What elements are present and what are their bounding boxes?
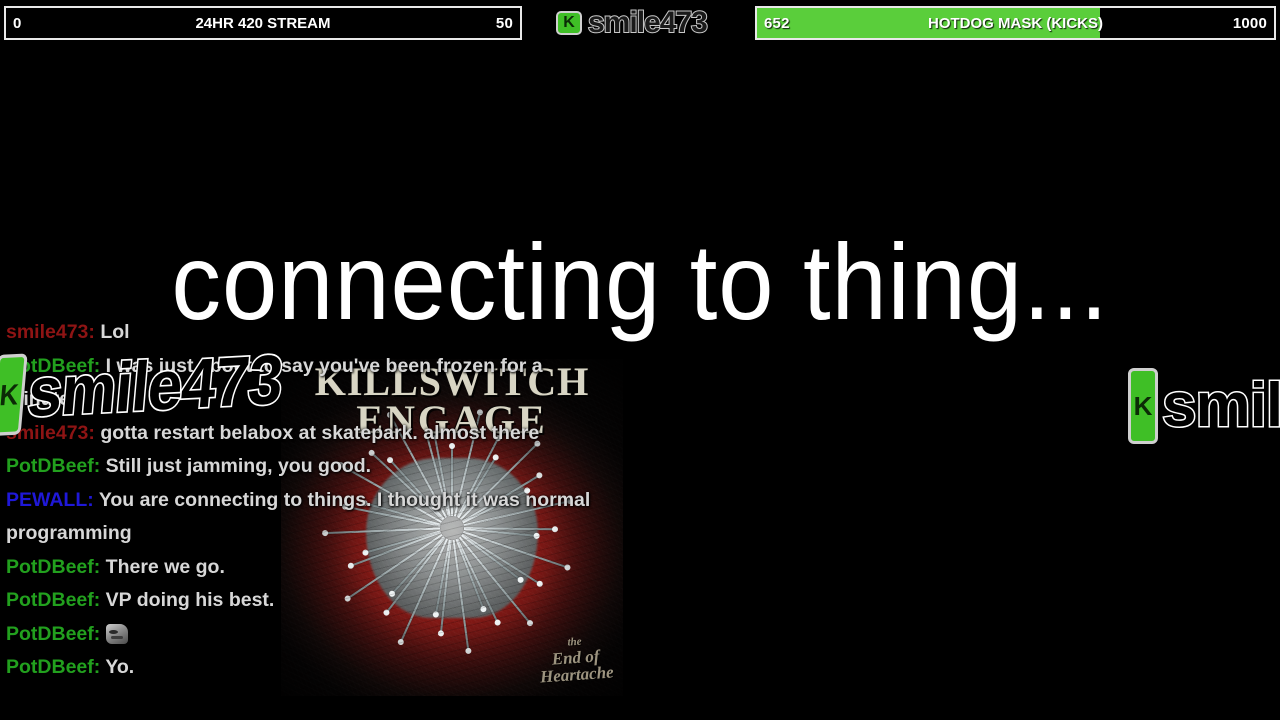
chat-emote-icon xyxy=(106,624,128,644)
chat-message: PEWALL: You are connecting to things. I … xyxy=(0,484,600,551)
chat-message-text: Still just jamming, you good. xyxy=(106,455,371,477)
chat-username[interactable]: PotDBeef: xyxy=(6,455,106,477)
goal-bar-right-current: 652 xyxy=(764,15,790,32)
chat-username[interactable]: PotDBeef: xyxy=(6,556,106,578)
chat-username[interactable]: PotDBeef: xyxy=(6,656,105,678)
chat-message: PotDBeef: There we go. xyxy=(0,551,600,585)
chat-username[interactable]: PotDBeef: xyxy=(6,623,106,645)
goal-bar-right-max: 1000 xyxy=(1233,15,1267,32)
chat-message: smile473: Lol xyxy=(0,316,600,350)
goal-bar-right: HOTDOG MASK (KICKS) 652 1000 xyxy=(755,6,1276,40)
chat-username[interactable]: PotDBeef: xyxy=(6,355,106,377)
chat-message: PotDBeef: VP doing his best. xyxy=(0,584,600,618)
chat-message: PotDBeef: Yo. xyxy=(0,651,600,685)
chat-message: PotDBeef: I was just about to say you've… xyxy=(0,350,600,417)
chat-message: PotDBeef: xyxy=(0,618,600,652)
chat-message-text: Lol xyxy=(100,321,129,343)
channel-logo: K smile473 xyxy=(556,4,736,42)
chat-message-text: gotta restart belabox at skatepark. almo… xyxy=(100,422,539,444)
chat-message: PotDBeef: Still just jamming, you good. xyxy=(0,450,600,484)
chat-username[interactable]: smile473: xyxy=(6,321,100,343)
chat-username[interactable]: smile473: xyxy=(6,422,100,444)
chat-overlay: smile473: LolPotDBeef: I was just about … xyxy=(0,316,600,720)
channel-logo-label: smile473 xyxy=(588,8,707,38)
chat-username[interactable]: PEWALL: xyxy=(6,489,99,511)
chat-message-text: VP doing his best. xyxy=(106,589,275,611)
channel-watermark-right: K smile473 xyxy=(1128,368,1280,444)
goal-bar-left: 24HR 420 STREAM 0 50 xyxy=(4,6,522,40)
kick-badge-icon: K xyxy=(556,11,582,35)
goal-bar-left-current: 0 xyxy=(13,15,22,32)
chat-message-text: There we go. xyxy=(106,556,225,578)
chat-username[interactable]: PotDBeef: xyxy=(6,589,106,611)
stream-header-bar: 24HR 420 STREAM 0 50 K smile473 HOTDOG M… xyxy=(0,0,1280,46)
chat-message: smile473: gotta restart belabox at skate… xyxy=(0,417,600,451)
watermark-right-label: smile473 xyxy=(1162,375,1280,437)
chat-message-text: Yo. xyxy=(105,656,134,678)
kick-badge-icon: K xyxy=(1128,368,1158,444)
goal-bar-left-max: 50 xyxy=(496,15,513,32)
